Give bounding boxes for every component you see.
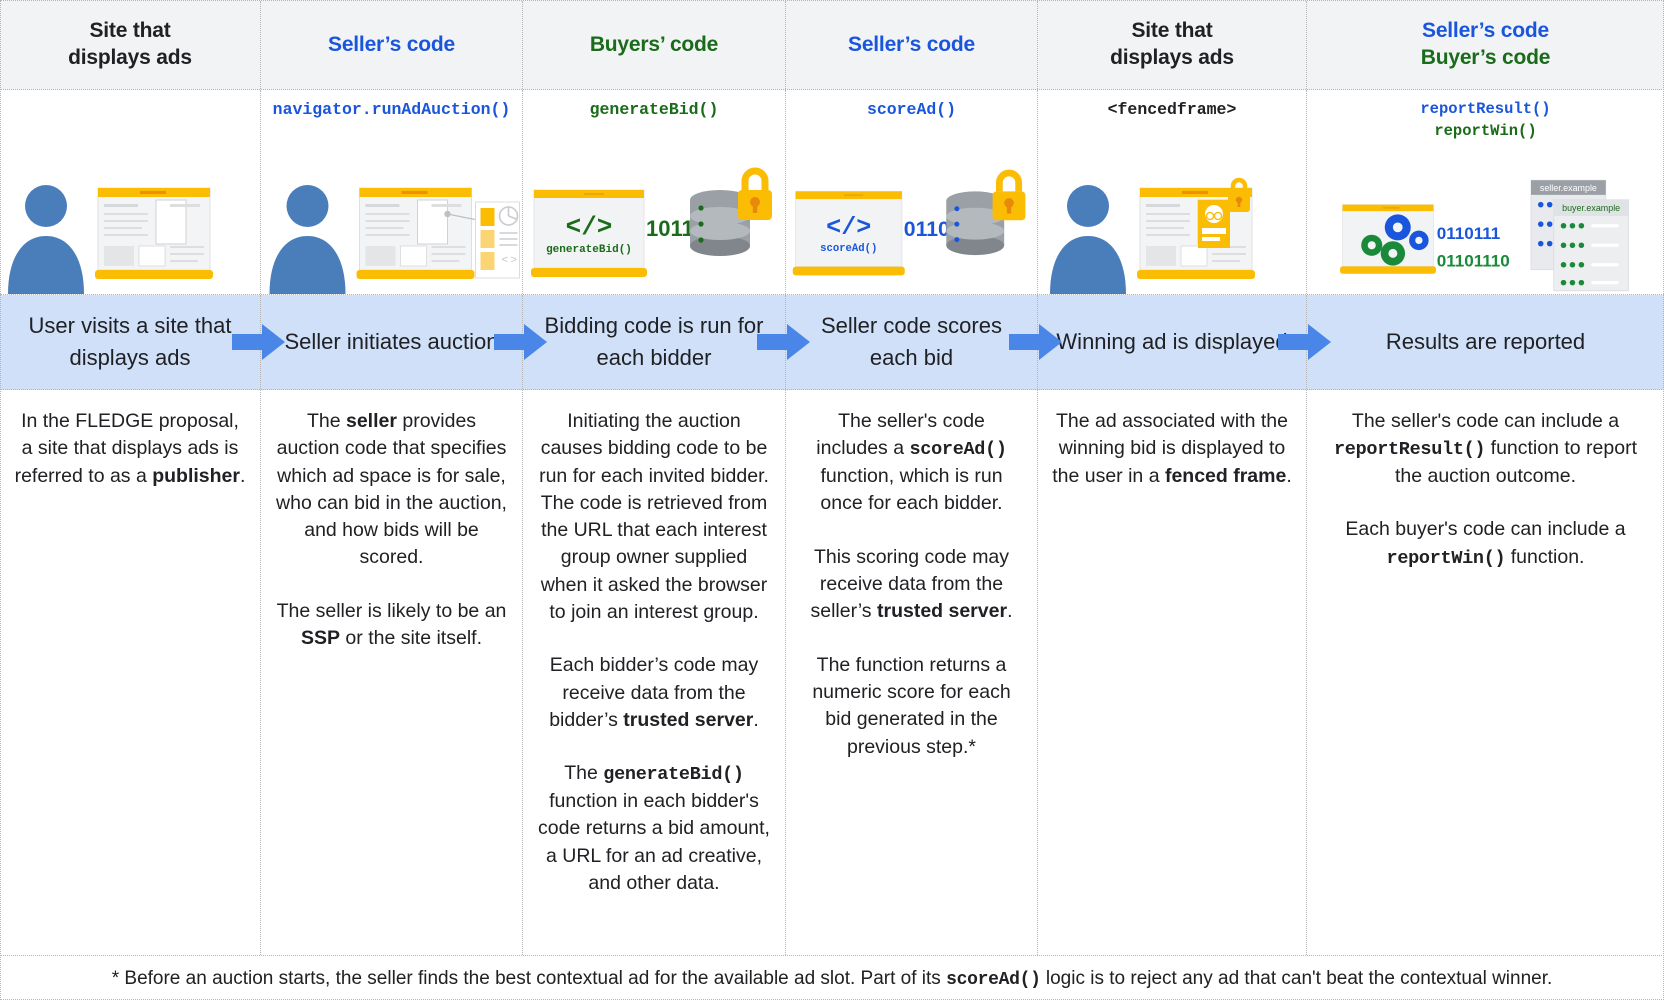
step-band: User visits a site that displays ads Sel…: [0, 295, 1664, 390]
description-paragraph: The function returns a numeric score for…: [800, 652, 1023, 761]
column-header-line: Site that: [89, 18, 170, 45]
person-at-laptop-illustration: < >: [261, 164, 522, 294]
api-cell-4: scoreAd() </> scoreAd() 0110111: [785, 90, 1037, 294]
server-label-seller: seller.example: [1540, 183, 1597, 193]
step-label: Bidding code is run for each bidder: [537, 310, 771, 374]
api-function-name: scoreAd(): [786, 98, 1037, 122]
description-paragraph: The seller provides auction code that sp…: [275, 408, 508, 572]
description-row: In the FLEDGE proposal, a site that disp…: [0, 390, 1664, 955]
step-label: Seller code scores each bid: [800, 310, 1023, 374]
header-row: Site thatdisplays adsSeller’s codeBuyers…: [0, 0, 1664, 90]
column-header-4: Seller’s code: [785, 1, 1037, 89]
description-paragraph: Each buyer's code can include a reportWi…: [1321, 516, 1650, 571]
person-at-laptop-illustration: [0, 164, 260, 294]
step-2-seller-initiates-auction: Seller initiates auction: [260, 295, 522, 389]
api-cell-3: generateBid() </> generateBid() 1011110: [522, 90, 785, 294]
description-paragraph: The seller's code includes a scoreAd() f…: [800, 408, 1023, 518]
api-function-names: <fencedframe>: [1038, 98, 1306, 122]
lock-icon: [738, 171, 772, 220]
laptop-code-label: generateBid(): [546, 244, 632, 256]
illustration-3: </> generateBid() 1011110: [523, 164, 785, 294]
description-5: The ad associated with the winning bid i…: [1037, 390, 1306, 955]
step-5-winning-ad-is-displayed: Winning ad is displayed: [1037, 295, 1306, 389]
step-label: Results are reported: [1386, 326, 1585, 358]
laptop-gears-servers-illustration: 0110111 01101110 seller.example buyer.ex…: [1307, 164, 1664, 294]
column-header-2: Seller’s code: [260, 1, 522, 89]
illustration-2: < >: [261, 164, 522, 294]
description-paragraph: In the FLEDGE proposal, a site that disp…: [14, 408, 246, 490]
laptop-with-code: </> scoreAd(): [793, 191, 905, 275]
column-header-1: Site thatdisplays ads: [0, 1, 260, 89]
description-1: In the FLEDGE proposal, a site that disp…: [0, 390, 260, 955]
api-cell-2: navigator.runAdAuction(): [260, 90, 522, 294]
laptop-code-database-illustration: </> generateBid() 1011110: [523, 164, 785, 294]
column-header-line: Seller’s code: [328, 32, 455, 59]
column-header-line: Seller’s code: [848, 32, 975, 59]
illustration-4: </> scoreAd() 0110111: [786, 164, 1037, 294]
column-header-line: displays ads: [1110, 45, 1234, 72]
winning-ad-creative: [1198, 200, 1230, 248]
description-paragraph: The seller's code can include a reportRe…: [1321, 408, 1650, 490]
flow-arrow-icon: [757, 322, 811, 362]
binary-stream-seller: 0110111: [1437, 224, 1501, 243]
description-4: The seller's code includes a scoreAd() f…: [785, 390, 1037, 955]
step-1-user-visits-a-site-that-displays-ads: User visits a site that displays ads: [0, 295, 260, 389]
laptop-with-code: </> generateBid(): [531, 190, 647, 277]
api-function-names: navigator.runAdAuction(): [261, 98, 522, 122]
step-3-bidding-code-is-run-for-each-bidder: Bidding code is run for each bidder: [522, 295, 785, 389]
api-function-name: <fencedframe>: [1038, 98, 1306, 122]
column-header-6: Seller’s codeBuyer’s code: [1306, 1, 1664, 89]
step-4-seller-code-scores-each-bid: Seller code scores each bid: [785, 295, 1037, 389]
server-rack-buyer: buyer.example: [1554, 200, 1629, 291]
api-cell-6: reportResult()reportWin() 0110111 011011…: [1306, 90, 1664, 294]
flow-arrow-icon: [494, 322, 548, 362]
step-label: Seller initiates auction: [284, 326, 498, 358]
description-paragraph: Each bidder’s code may receive data from…: [537, 652, 771, 734]
person-at-laptop-illustration: [1038, 164, 1306, 294]
footnote-row: * Before an auction starts, the seller f…: [0, 955, 1664, 1002]
api-function-names: generateBid(): [523, 98, 785, 122]
svg-text:</>: </>: [826, 213, 871, 242]
column-header-line: displays ads: [68, 45, 192, 72]
description-paragraph: Initiating the auction causes bidding co…: [537, 408, 771, 626]
server-label-buyer: buyer.example: [1562, 203, 1620, 213]
description-paragraph: The ad associated with the winning bid i…: [1052, 408, 1292, 490]
column-header-line: Seller’s code: [1422, 18, 1549, 45]
svg-text:<: <: [502, 255, 509, 267]
laptop-code-label: scoreAd(): [820, 243, 877, 255]
column-header-3: Buyers’ code: [522, 1, 785, 89]
api-cell-1: [0, 90, 260, 294]
step-6-results-are-reported: Results are reported: [1306, 295, 1664, 389]
svg-text:</>: </>: [566, 212, 613, 242]
laptop-code-database-illustration: </> scoreAd() 0110111: [786, 164, 1037, 294]
illustration-6: 0110111 01101110 seller.example buyer.ex…: [1307, 164, 1664, 294]
lock-icon: [993, 173, 1026, 220]
api-function-names: reportResult()reportWin(): [1307, 98, 1664, 143]
description-6: The seller's code can include a reportRe…: [1306, 390, 1664, 955]
flow-diagram: Site thatdisplays adsSeller’s codeBuyers…: [0, 0, 1664, 1000]
api-illustration-row: navigator.runAdAuction(): [0, 90, 1664, 295]
api-function-name: reportWin(): [1307, 120, 1664, 142]
illustration-1: [0, 164, 260, 294]
lock-icon: [1228, 180, 1250, 212]
description-3: Initiating the auction causes bidding co…: [522, 390, 785, 955]
column-header-line: Site that: [1131, 18, 1212, 45]
description-paragraph: The generateBid() function in each bidde…: [537, 760, 771, 897]
illustration-5: [1038, 164, 1306, 294]
step-label: Winning ad is displayed: [1056, 326, 1287, 358]
laptop-with-gears: [1340, 205, 1436, 274]
footnote-text: * Before an auction starts, the seller f…: [112, 968, 1553, 990]
description-paragraph: This scoring code may receive data from …: [800, 544, 1023, 626]
flow-arrow-icon: [232, 322, 286, 362]
column-header-5: Site thatdisplays ads: [1037, 1, 1306, 89]
api-function-name: navigator.runAdAuction(): [261, 98, 522, 122]
svg-text:>: >: [511, 255, 518, 267]
flow-arrow-icon: [1278, 322, 1332, 362]
step-label: User visits a site that displays ads: [14, 310, 246, 374]
column-header-line: Buyer’s code: [1421, 45, 1551, 72]
footnote: * Before an auction starts, the seller f…: [0, 956, 1664, 1002]
api-cell-5: <fencedframe>: [1037, 90, 1306, 294]
description-2: The seller provides auction code that sp…: [260, 390, 522, 955]
api-function-name: reportResult(): [1307, 98, 1664, 120]
column-header-line: Buyers’ code: [590, 32, 718, 59]
binary-stream-buyer: 01101110: [1437, 251, 1510, 270]
api-function-names: scoreAd(): [786, 98, 1037, 122]
flow-arrow-icon: [1009, 322, 1063, 362]
api-function-name: generateBid(): [523, 98, 785, 122]
description-paragraph: The seller is likely to be an SSP or the…: [275, 598, 508, 653]
